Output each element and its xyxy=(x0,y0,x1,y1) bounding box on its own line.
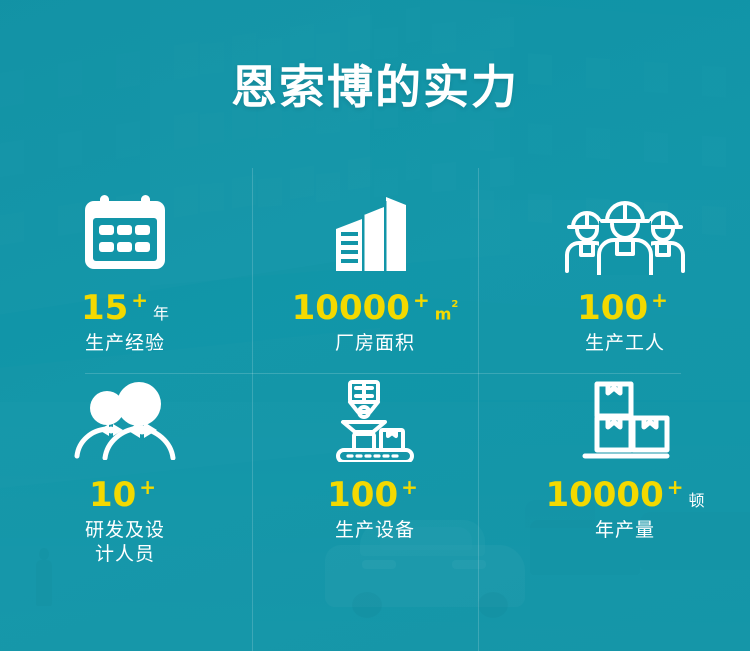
promo-banner: 恩索博的实力 xyxy=(0,0,750,651)
stat-plus-sign: + xyxy=(401,477,418,497)
production-machine-icon xyxy=(329,372,421,468)
stat-card-annual-output: 10000 + 顿 年产量 xyxy=(500,372,750,567)
stat-card-factory-area: 10000 + m2 厂房面积 xyxy=(250,185,500,356)
stat-number: 10 xyxy=(89,478,136,512)
stat-plus-sign: + xyxy=(413,290,430,310)
stat-plus-sign: + xyxy=(131,290,148,310)
stat-card-design-staff: 10 + 研发及设计人员 xyxy=(0,372,250,567)
stat-value: 10 + xyxy=(89,478,161,512)
factory-building-icon xyxy=(328,185,422,281)
stat-number: 10000 xyxy=(545,478,663,512)
stat-plus-sign: + xyxy=(667,477,684,497)
stat-label: 生产工人 xyxy=(585,332,665,356)
stats-row-top: 15 + 年 生产经验 xyxy=(0,185,750,356)
stat-value: 10000 + 顿 xyxy=(545,478,704,512)
boxes-stack-icon xyxy=(577,372,673,468)
page-title: 恩索博的实力 xyxy=(0,62,750,113)
stat-number: 100 xyxy=(327,478,398,512)
stat-plus-sign: + xyxy=(651,290,668,310)
stat-label: 厂房面积 xyxy=(335,332,415,356)
stats-grid: 15 + 年 生产经验 xyxy=(0,185,750,566)
stat-label: 研发及设计人员 xyxy=(85,519,165,567)
stat-plus-sign: + xyxy=(139,477,156,497)
construction-workers-icon xyxy=(559,185,691,281)
stat-unit: 顿 xyxy=(689,493,705,509)
design-team-icon xyxy=(69,372,181,468)
stat-number: 15 xyxy=(81,291,128,325)
stat-unit: m2 xyxy=(435,306,459,322)
calendar-icon xyxy=(82,185,168,281)
stats-row-bottom: 10 + 研发及设计人员 xyxy=(0,372,750,567)
stat-label: 生产设备 xyxy=(335,519,415,543)
stat-card-production-experience: 15 + 年 生产经验 xyxy=(0,185,250,356)
stat-card-production-equipment: 100 + 生产设备 xyxy=(250,372,500,567)
stat-value: 100 + xyxy=(577,291,673,325)
stat-value: 10000 + m2 xyxy=(292,291,459,325)
stat-number: 100 xyxy=(577,291,648,325)
stat-label: 年产量 xyxy=(595,519,655,543)
stat-value: 15 + 年 xyxy=(81,291,169,325)
stat-card-production-workers: 100 + 生产工人 xyxy=(500,185,750,356)
stat-value: 100 + xyxy=(327,478,423,512)
stat-unit: 年 xyxy=(153,306,169,322)
stat-label: 生产经验 xyxy=(85,332,165,356)
stat-number: 10000 xyxy=(292,291,410,325)
